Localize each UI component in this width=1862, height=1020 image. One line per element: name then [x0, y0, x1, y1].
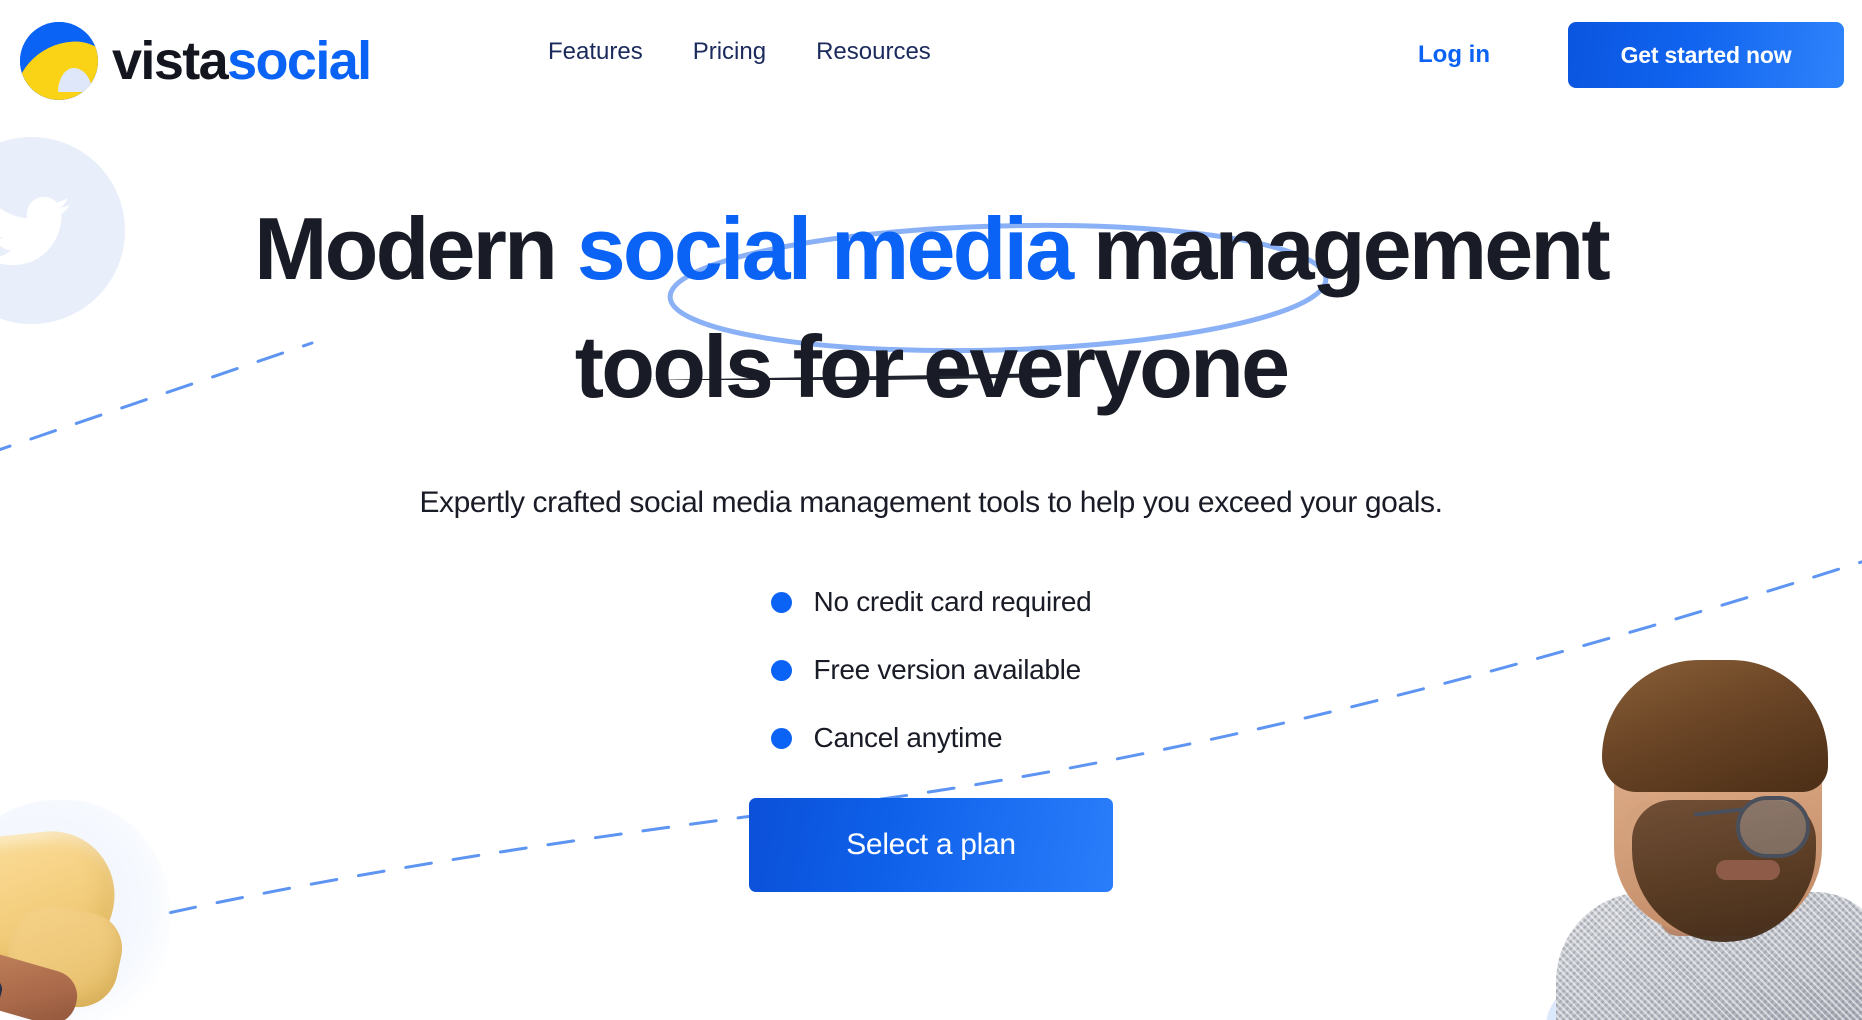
- site-header: vistasocial Features Pricing Resources L…: [0, 0, 1862, 110]
- vista-social-circle-logo: [20, 22, 98, 100]
- benefit-item: No credit card required: [771, 568, 1092, 636]
- benefit-label: No credit card required: [814, 586, 1092, 618]
- hero-subheadline: Expertly crafted social media management…: [0, 482, 1862, 524]
- benefit-label: Free version available: [814, 654, 1081, 686]
- primary-navigation: Features Pricing Resources: [548, 38, 931, 66]
- get-started-button[interactable]: Get started now: [1568, 22, 1844, 88]
- headline-text-accent: social media: [577, 199, 1072, 298]
- landing-page: vistasocial Features Pricing Resources L…: [0, 0, 1862, 1020]
- nav-item-pricing[interactable]: Pricing: [693, 38, 766, 66]
- photo-left-cuff: [0, 897, 129, 1014]
- page-title: Modern social media management tools for…: [191, 190, 1671, 426]
- person-avatar-icon: [1546, 925, 1634, 1020]
- benefits-list: No credit card required Free version ava…: [771, 568, 1092, 772]
- bullet-dot-icon: [771, 728, 792, 749]
- header-actions: Log in Get started now: [1418, 22, 1844, 88]
- nav-item-features[interactable]: Features: [548, 38, 643, 66]
- person-avatar-body: [1546, 983, 1634, 1020]
- brand-wordmark-vista: vista: [112, 31, 227, 91]
- person-avatar-head: [1564, 925, 1616, 977]
- hero-section: Modern social media management tools for…: [0, 110, 1862, 892]
- benefit-item: Cancel anytime: [771, 704, 1092, 772]
- bullet-dot-icon: [771, 660, 792, 681]
- brand-wordmark-social: social: [227, 31, 371, 91]
- benefit-item: Free version available: [771, 636, 1092, 704]
- headline-wrapper: Modern social media management tools for…: [0, 190, 1862, 426]
- photo-right-jacket: [1556, 892, 1862, 1020]
- login-link[interactable]: Log in: [1418, 41, 1490, 69]
- benefit-label: Cancel anytime: [814, 722, 1003, 754]
- photo-left-watch: [0, 972, 4, 1020]
- photo-left-wrist: [0, 948, 83, 1020]
- brand-logo-link[interactable]: vistasocial: [20, 22, 371, 100]
- select-a-plan-button[interactable]: Select a plan: [749, 798, 1113, 892]
- headline-text-part1: Modern: [254, 199, 577, 298]
- bullet-dot-icon: [771, 592, 792, 613]
- brand-wordmark: vistasocial: [112, 34, 371, 88]
- nav-item-resources[interactable]: Resources: [816, 38, 931, 66]
